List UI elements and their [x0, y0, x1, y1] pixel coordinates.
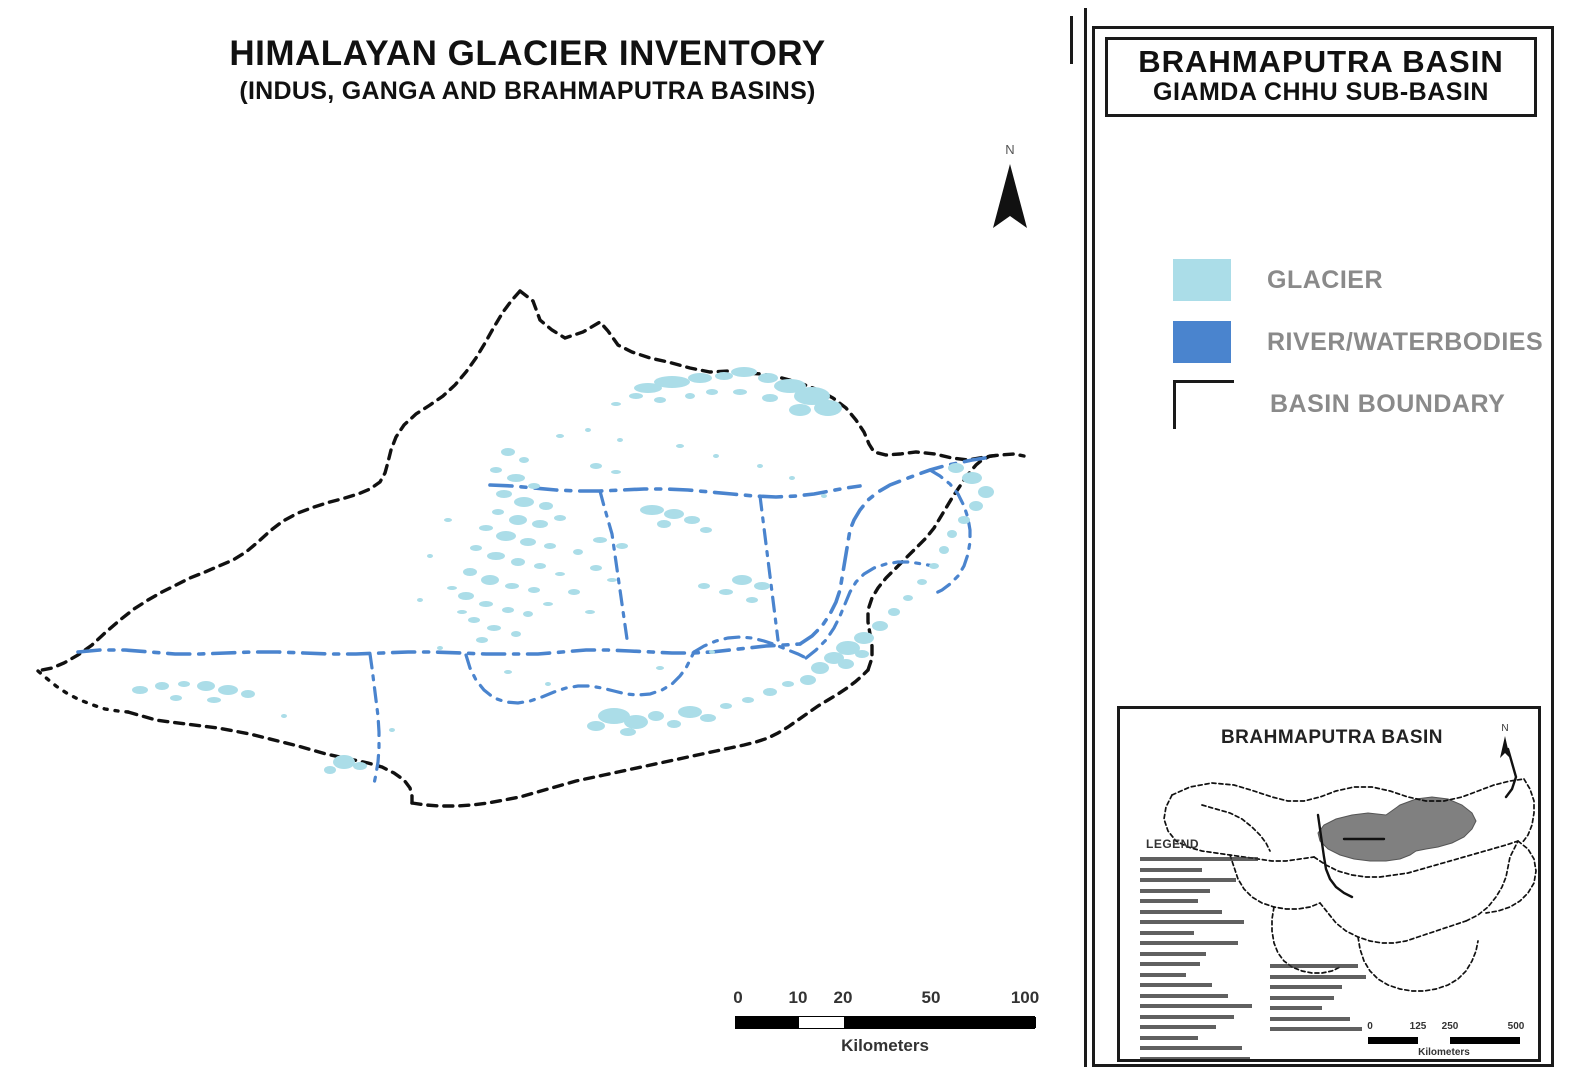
inset-highlight-region — [1318, 797, 1476, 861]
inset-scale-tick-0: 0 — [1367, 1021, 1373, 1032]
inset-scale-tick-125: 125 — [1410, 1021, 1427, 1032]
glacier-swatch-icon — [1173, 259, 1231, 301]
divider-rule-long — [1084, 8, 1087, 1067]
legend-label-boundary: BASIN BOUNDARY — [1270, 390, 1505, 419]
panel-title-box: BRAHMAPUTRA BASIN GIAMDA CHHU SUB-BASIN — [1105, 37, 1537, 117]
inset-legend-title: LEGEND — [1146, 837, 1199, 851]
scale-bar-labels: 0 10 20 50 100 — [735, 988, 1045, 1010]
inset-locator-map: BRAHMAPUTRA BASIN N .ibn { fill:none; st… — [1117, 706, 1541, 1062]
legend-item-boundary: BASIN BOUNDARY — [1173, 373, 1553, 435]
legend: GLACIER RIVER/WATERBODIES BASIN BOUNDARY — [1173, 249, 1553, 435]
legend-item-river: RIVER/WATERBODIES — [1173, 311, 1553, 373]
glacier-polygons — [132, 367, 994, 774]
inset-legend-list-column2 — [1270, 964, 1378, 1038]
inset-scale-tick-500: 500 — [1508, 1021, 1525, 1032]
panel-title-line1: BRAHMAPUTRA BASIN — [1112, 46, 1530, 79]
inset-scale-bar: 0 125 250 500 Kilometers — [1368, 1021, 1528, 1035]
scale-bar-graphic — [735, 1016, 1035, 1029]
legend-panel: BRAHMAPUTRA BASIN GIAMDA CHHU SUB-BASIN … — [1092, 26, 1554, 1067]
inset-scale-unit: Kilometers — [1368, 1047, 1520, 1058]
legend-label-glacier: GLACIER — [1267, 266, 1383, 295]
panel-title-line2: GIAMDA CHHU SUB-BASIN — [1112, 79, 1530, 107]
legend-label-river: RIVER/WATERBODIES — [1267, 328, 1543, 357]
basin-boundary-outline — [38, 291, 1024, 806]
inset-scale-labels: 0 125 250 500 — [1368, 1021, 1528, 1035]
river-swatch-icon — [1173, 321, 1231, 363]
scale-tick-20: 20 — [834, 988, 853, 1008]
inset-scale-graphic — [1368, 1037, 1520, 1044]
inset-scale-tick-250: 250 — [1442, 1021, 1459, 1032]
scale-tick-50: 50 — [922, 988, 941, 1008]
map-pane: HIMALAYAN GLACIER INVENTORY (INDUS, GANG… — [0, 0, 1055, 1067]
scale-tick-10: 10 — [789, 988, 808, 1008]
scale-bar: 0 10 20 50 100 Kilometers — [735, 988, 1045, 1066]
scale-bar-unit: Kilometers — [735, 1036, 1035, 1056]
boundary-corner-icon — [1173, 380, 1234, 429]
scale-tick-100: 100 — [1011, 988, 1039, 1008]
legend-item-glacier: GLACIER — [1173, 249, 1553, 311]
scale-tick-0: 0 — [733, 988, 742, 1008]
basin-map-graphic: .bnd { fill:none; stroke:#111; stroke-wi… — [0, 0, 1055, 1067]
divider-rule-short — [1070, 16, 1073, 64]
river-network — [78, 458, 985, 784]
